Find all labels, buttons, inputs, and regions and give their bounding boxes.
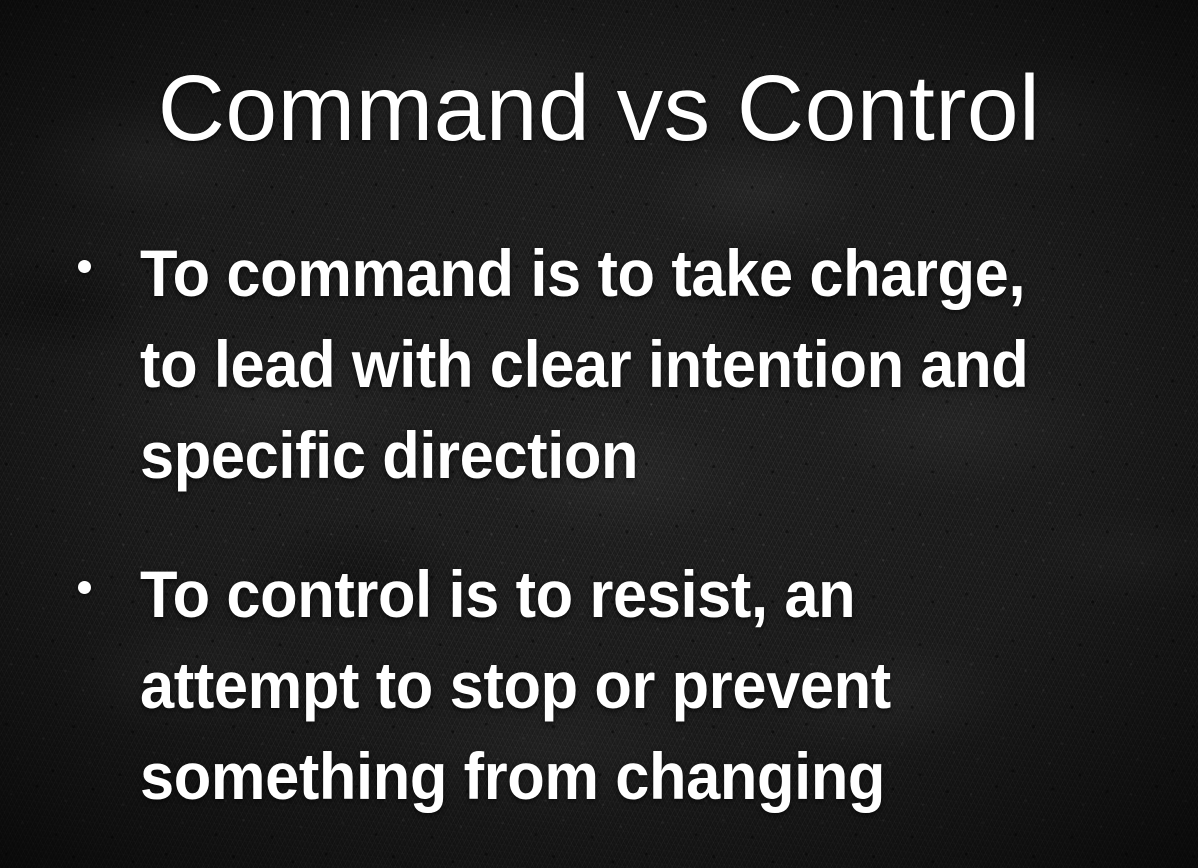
list-item: To control is to resist, an attempt to s… [64,549,1144,822]
bullet-dot-icon [78,581,91,594]
slide-content: Command vs Control To command is to take… [0,0,1198,868]
presentation-slide: Command vs Control To command is to take… [0,0,1198,868]
bullet-line: something from changing [140,731,1074,822]
bullet-line: specific direction [140,410,1074,501]
bullet-line: attempt to stop or prevent [140,640,1074,731]
bullet-marker [64,228,140,273]
bullet-line: To control is to resist, an [140,549,1074,640]
slide-title: Command vs Control [0,62,1198,155]
list-item: To command is to take charge, to lead wi… [64,228,1144,501]
bullet-dot-icon [78,260,91,273]
bullet-marker [64,549,140,594]
bullet-text: To control is to resist, an attempt to s… [140,549,1074,822]
bullet-line: to lead with clear intention and [140,319,1074,410]
bullet-text: To command is to take charge, to lead wi… [140,228,1074,501]
bullet-list: To command is to take charge, to lead wi… [64,228,1144,822]
bullet-line: To command is to take charge, [140,228,1074,319]
